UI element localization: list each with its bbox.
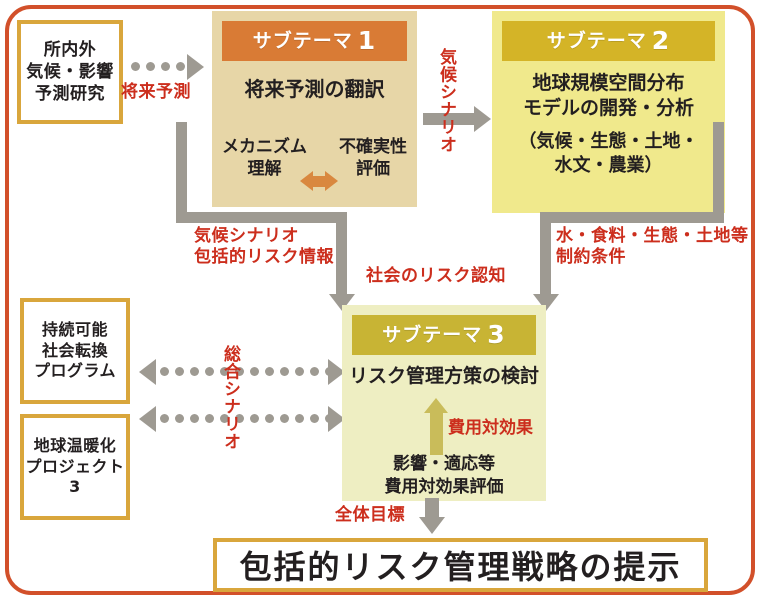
future-prediction-label: 将来予測 — [121, 82, 191, 103]
water-food-constraints-line-1: 水・食料・生態・土地等 — [556, 226, 749, 247]
subtheme-2-subtitle-line-1: （気候・生態・土地・ — [519, 130, 699, 154]
subtheme2-bracket-bottom-horizontal — [540, 212, 724, 223]
subtheme-3-card: サブテーマ3 リスク管理方策の検討 費用対効果 影響・適応等 費用対効果評価 — [342, 305, 546, 501]
subtheme-3-header-label: サブテーマ — [382, 324, 482, 346]
integrated-scenario-vertical-label: 総合シナリオ — [221, 345, 238, 450]
water-food-constraints-label: 水・食料・生態・土地等 制約条件 — [556, 226, 749, 269]
subtheme2-to-subtheme3-shaft — [540, 212, 551, 296]
final-output-banner: 包括的リスク管理戦略の提示 — [213, 538, 708, 592]
subtheme-1-uncertainty-line-2: 評価 — [339, 158, 407, 180]
integrated-scenario-dots-2 — [160, 414, 334, 423]
subtheme-3-evaluation-line-2: 費用対効果評価 — [342, 476, 546, 499]
subtheme-2-title-line-2: モデルの開発・分析 — [523, 96, 694, 121]
subtheme-2-card: サブテーマ2 地球規模空間分布 モデルの開発・分析 （気候・生態・土地・ 水文・… — [492, 11, 725, 213]
subtheme-1-title: 将来予測の翻訳 — [245, 76, 385, 102]
future-prediction-dotted-arrow — [131, 62, 185, 71]
subtheme-1-header: サブテーマ1 — [222, 21, 407, 61]
subtheme-3-evaluation: 影響・適応等 費用対効果評価 — [342, 453, 546, 499]
global-warming-line-2: プロジェクト — [25, 457, 124, 478]
climate-scenario-risk-line-2: 包括的リスク情報 — [194, 247, 334, 268]
integrated-scenario-arrowhead-left-1 — [139, 359, 156, 385]
sidebar-box-sustainable-society: 持続可能 社会転換 プログラム — [20, 298, 130, 404]
subtheme2-bracket-right-vertical — [713, 122, 724, 223]
cost-effect-arrow-head — [424, 398, 448, 413]
subtheme-2-subtitle: （気候・生態・土地・ 水文・農業） — [519, 130, 699, 178]
overall-goal-arrowhead — [419, 517, 445, 534]
sustainable-society-line-3: プログラム — [34, 361, 116, 382]
cost-effect-label: 費用対効果 — [448, 413, 533, 438]
subtheme-1-mechanism-line-1: メカニズム — [222, 136, 307, 158]
overall-goal-label: 全体目標 — [335, 505, 405, 526]
subtheme-2-subtitle-line-2: 水文・農業） — [519, 154, 699, 178]
sustainable-society-line-2: 社会転換 — [42, 341, 108, 362]
input-line-3: 予測研究 — [35, 83, 105, 105]
sidebar-box-global-warming-project: 地球温暖化 プロジェクト 3 — [20, 414, 130, 520]
subtheme-1-uncertainty: 不確実性 評価 — [339, 136, 407, 180]
global-warming-line-3: 3 — [69, 477, 81, 498]
subtheme-3-title: リスク管理方策の検討 — [349, 364, 539, 389]
subtheme-1-header-number: 1 — [358, 26, 376, 55]
climate-scenario-arrowhead — [474, 106, 491, 132]
global-warming-line-1: 地球温暖化 — [34, 436, 117, 457]
subtheme-2-title: 地球規模空間分布 モデルの開発・分析 — [523, 71, 694, 120]
subtheme-1-card: サブテーマ1 将来予測の翻訳 メカニズム 理解 不確実性 評価 — [212, 11, 417, 207]
input-line-1: 所内外 — [44, 39, 97, 61]
diagram-canvas: 所内外 気候・影響 予測研究 将来予測 サブテーマ1 将来予測の翻訳 メカニズム… — [0, 0, 766, 606]
climate-scenario-vertical-label: 気候シナリオ — [437, 48, 454, 153]
bidirectional-arrow-icon — [300, 171, 338, 191]
subtheme1-bracket-bottom-horizontal — [176, 212, 347, 223]
social-risk-perception-label: 社会のリスク認知 — [366, 266, 506, 287]
subtheme1-bracket-left-vertical — [176, 122, 187, 223]
subtheme-1-mechanism-line-2: 理解 — [222, 158, 307, 180]
subtheme-3-header: サブテーマ3 — [352, 315, 536, 355]
subtheme-1-header-label: サブテーマ — [253, 30, 353, 52]
integrated-scenario-arrowhead-left-2 — [139, 406, 156, 432]
subtheme-2-title-line-1: 地球規模空間分布 — [523, 71, 694, 96]
climate-scenario-risk-label: 気候シナリオ 包括的リスク情報 — [194, 226, 334, 269]
input-research-box: 所内外 気候・影響 予測研究 — [17, 20, 123, 124]
input-line-2: 気候・影響 — [26, 61, 114, 83]
subtheme-2-header-label: サブテーマ — [547, 30, 647, 52]
future-prediction-arrowhead — [187, 54, 204, 80]
climate-scenario-risk-line-1: 気候シナリオ — [194, 226, 334, 247]
subtheme-2-header: サブテーマ2 — [502, 21, 715, 61]
sustainable-society-line-1: 持続可能 — [42, 320, 108, 341]
water-food-constraints-line-2: 制約条件 — [556, 247, 749, 268]
cost-effect-arrow-shaft — [430, 412, 443, 455]
integrated-scenario-dots-1 — [160, 367, 334, 376]
subtheme1-to-subtheme3-shaft — [336, 212, 347, 296]
subtheme-3-evaluation-line-1: 影響・適応等 — [342, 453, 546, 476]
subtheme-2-header-number: 2 — [652, 26, 670, 55]
subtheme-1-uncertainty-line-1: 不確実性 — [339, 136, 407, 158]
subtheme-3-header-number: 3 — [487, 320, 505, 349]
subtheme-1-mechanism: メカニズム 理解 — [222, 136, 307, 180]
